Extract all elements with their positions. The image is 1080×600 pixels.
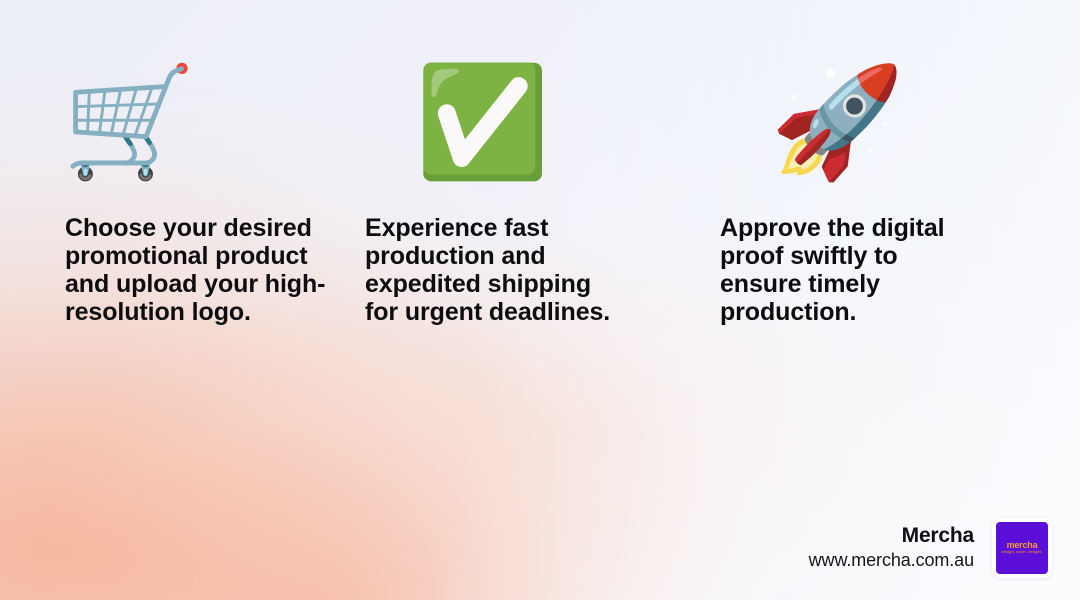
footer-brand-block: Mercha www.mercha.com.au mercha design. …	[809, 518, 1052, 578]
mercha-logo-tagline: design. order. delight.	[1002, 551, 1043, 554]
mercha-logo: mercha design. order. delight.	[992, 518, 1052, 578]
brand-website-url[interactable]: www.mercha.com.au	[809, 550, 974, 572]
check-mark-button-icon-glyph: ✅	[415, 69, 549, 177]
step-3-description: Approve the digital proof swiftly to ens…	[720, 214, 982, 326]
step-1-description: Choose your desired promotional product …	[65, 214, 327, 326]
mercha-logo-tile: mercha design. order. delight.	[996, 522, 1048, 574]
brand-name: Mercha	[902, 524, 974, 547]
steps-row: 🛒 Choose your desired promotional produc…	[0, 0, 1080, 600]
rocket-icon-glyph: 🚀	[770, 69, 904, 177]
check-mark-button-icon: ✅	[415, 62, 549, 184]
step-column-3: 🚀 Approve the digital proof swiftly to e…	[715, 0, 1080, 600]
shopping-cart-icon: 🛒	[62, 62, 196, 184]
rocket-icon: 🚀	[770, 62, 904, 184]
promo-graphic-canvas: 🛒 Choose your desired promotional produc…	[0, 0, 1080, 600]
shopping-cart-icon-glyph: 🛒	[62, 69, 196, 177]
mercha-logo-wordmark: mercha	[1007, 541, 1038, 550]
step-2-description: Experience fast production and expedited…	[365, 214, 615, 326]
step-column-1: 🛒 Choose your desired promotional produc…	[0, 0, 360, 600]
step-column-2: ✅ Experience fast production and expedit…	[360, 0, 715, 600]
footer-text-group: Mercha www.mercha.com.au	[809, 524, 974, 572]
